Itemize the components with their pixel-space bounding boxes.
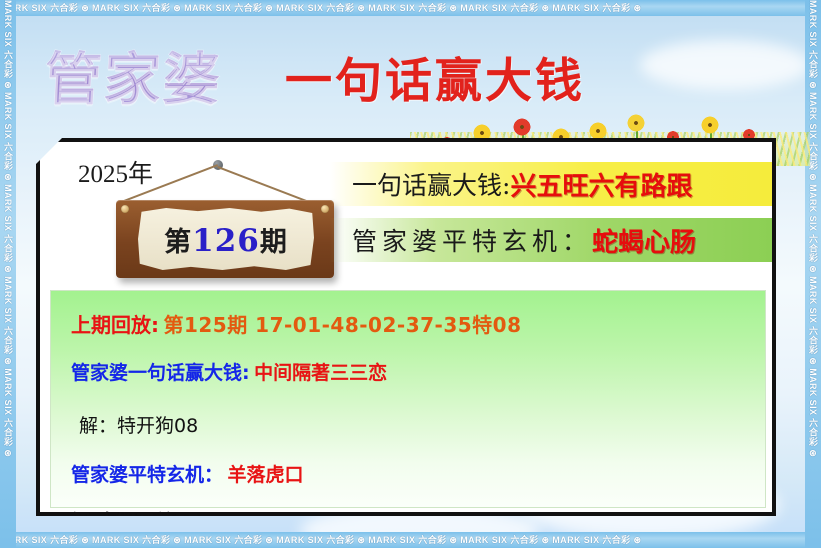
result-row-playback: 上期回放: 第125期 17-01-48-02-37-35特08	[71, 309, 765, 338]
border-band-top: MARK SIX 六合彩 ⊛ MARK SIX 六合彩 ⊛ MARK SIX 六…	[0, 0, 821, 16]
banner-value: 蛇蝎心肠	[592, 222, 696, 259]
result-row-label: 解：特开狗08	[79, 415, 198, 437]
border-band-text: MARK SIX 六合彩 ⊛	[92, 535, 184, 545]
result-row-explain-1: 解：特开狗08	[71, 411, 765, 438]
hanging-issue-sign: 第126期	[110, 160, 340, 290]
result-row-value: 第125期 17-01-48-02-37-35特08	[163, 313, 521, 337]
result-row-yijuhua: 管家婆一句话赢大钱: 中间隔著三三恋	[71, 358, 765, 385]
banner-label: 一句话赢大钱:	[352, 166, 510, 202]
banner-yi-ju-hua: 一句话赢大钱: 兴五旺六有路跟	[330, 162, 772, 206]
border-band-text: MARK SIX 六合彩 ⊛	[368, 535, 460, 545]
result-row-pingtexuanji: 管家婆平特玄机： 羊落虎口	[71, 460, 765, 487]
flower-decoration-yellow	[590, 123, 606, 139]
border-band-text: MARK SIX 六合彩 ⊛	[92, 3, 184, 13]
page-title: 一句话赢大钱	[285, 42, 585, 111]
issue-number: 126	[192, 223, 260, 259]
banner-label: 管家婆平特玄机：	[352, 222, 592, 258]
border-band-text: MARK SIX 六合彩 ⊛	[3, 368, 13, 457]
border-band-text: MARK SIX 六合彩 ⊛	[3, 276, 13, 368]
border-band-text: MARK SIX 六合彩 ⊛	[460, 535, 552, 545]
border-band-text: MARK SIX 六合彩 ⊛	[460, 3, 552, 13]
flower-decoration-yellow	[628, 115, 644, 131]
sign-rope-left	[118, 165, 218, 204]
border-band-text: MARK SIX 六合彩 ⊛	[552, 3, 641, 13]
banner-value: 兴五旺六有路跟	[510, 166, 692, 203]
issue-number-text: 第126期	[164, 220, 288, 259]
previous-results-box: 上期回放: 第125期 17-01-48-02-37-35特08 管家婆一句话赢…	[50, 290, 766, 508]
border-band-text: MARK SIX 六合彩 ⊛	[184, 3, 276, 13]
result-row-explain-2: 解:本期开羊35	[71, 507, 765, 534]
result-row-label: 管家婆平特玄机：	[71, 464, 223, 486]
site-logo: 管家婆	[43, 34, 224, 116]
border-band-text: MARK SIX 六合彩 ⊛	[808, 184, 818, 276]
sign-board: 第126期	[116, 200, 334, 278]
result-row-value: 羊落虎口	[227, 464, 303, 486]
main-panel: 2025年 第126期 一句话赢大钱: 兴五旺六有路跟 管家婆平特玄机： 蛇蝎心…	[36, 138, 776, 516]
sign-paper: 第126期	[138, 208, 314, 270]
border-band-text: MARK SIX 六合彩 ⊛	[808, 276, 818, 368]
result-row-value: 中间隔著三三恋	[254, 362, 387, 384]
flower-decoration-red	[514, 119, 530, 135]
banner-ping-te-xuan-ji: 管家婆平特玄机： 蛇蝎心肠	[330, 218, 772, 262]
border-band-text: MARK SIX 六合彩 ⊛	[808, 368, 818, 457]
border-band-text: MARK SIX 六合彩 ⊛	[276, 3, 368, 13]
page-header: 管家婆 管家婆 一句话赢大钱	[0, 16, 821, 146]
issue-suffix: 期	[260, 227, 288, 258]
border-band-text: MARK SIX 六合彩 ⊛	[184, 535, 276, 545]
result-row-label: 管家婆一句话赢大钱:	[71, 362, 250, 384]
border-band-bottom: MARK SIX 六合彩 ⊛ MARK SIX 六合彩 ⊛ MARK SIX 六…	[0, 532, 821, 548]
sign-screw-left	[121, 205, 129, 213]
border-band-text: MARK SIX 六合彩 ⊛	[368, 3, 460, 13]
issue-prefix: 第	[164, 227, 192, 258]
border-band-text: MARK SIX 六合彩 ⊛	[276, 535, 368, 545]
border-band-text: MARK SIX 六合彩 ⊛	[3, 184, 13, 276]
result-row-label: 上期回放:	[71, 313, 159, 337]
border-band-text: MARK SIX 六合彩 ⊛	[552, 535, 641, 545]
flower-decoration-yellow	[702, 117, 718, 133]
sign-screw-right	[321, 205, 329, 213]
result-row-label: 解:本期开羊35	[71, 511, 200, 533]
